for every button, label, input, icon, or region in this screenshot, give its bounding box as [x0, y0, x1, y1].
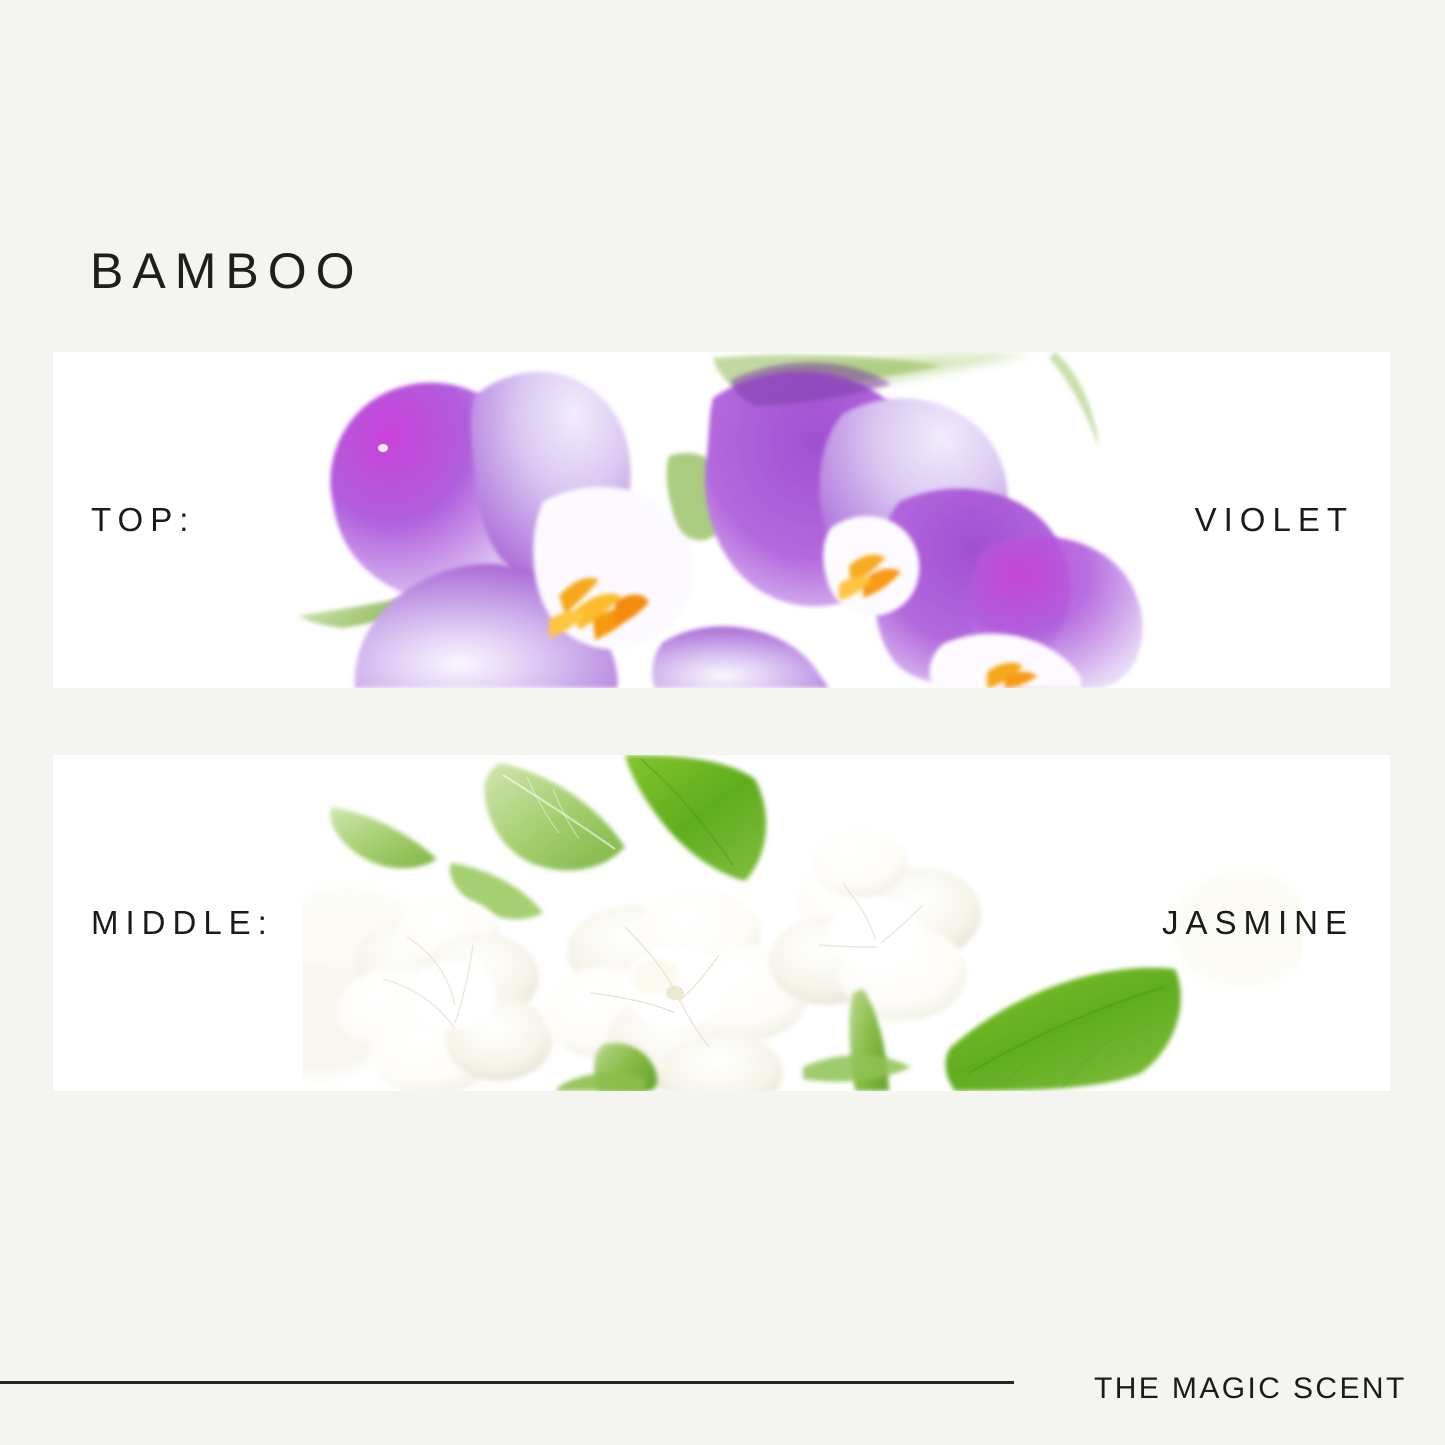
footer-brand-name: THE MAGIC SCENT	[1094, 1372, 1407, 1406]
fragrance-notes-card: BAMBOO	[0, 0, 1445, 1445]
violet-crocus-flowers-photo	[243, 352, 1223, 688]
note-label-middle: MIDDLE:	[91, 904, 274, 942]
note-row-middle: MIDDLE: JASMINE	[53, 755, 1390, 1091]
page-title: BAMBOO	[90, 246, 363, 296]
note-value-top: VIOLET	[1195, 501, 1354, 539]
note-row-top: TOP: VIOLET	[53, 352, 1390, 688]
note-value-middle: JASMINE	[1162, 904, 1354, 942]
note-label-top: TOP:	[91, 501, 195, 539]
white-jasmine-flowers-photo	[303, 755, 1303, 1091]
footer-divider-rule	[0, 1381, 1014, 1384]
